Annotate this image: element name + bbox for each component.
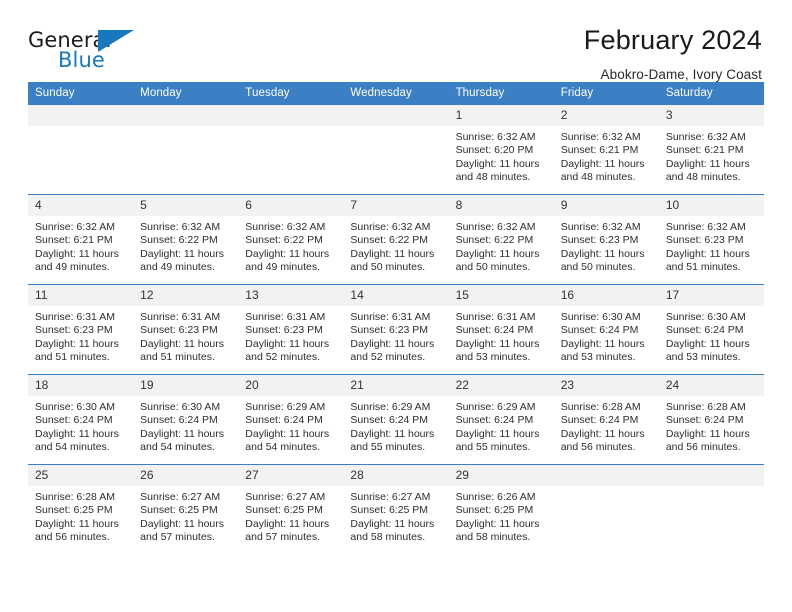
sunrise-time: Sunrise: 6:32 AM	[666, 221, 758, 234]
calendar-week-row: 18Sunrise: 6:30 AMSunset: 6:24 PMDayligh…	[28, 375, 764, 465]
daylight-duration-line2: and 51 minutes.	[666, 261, 758, 274]
sunrise-time: Sunrise: 6:28 AM	[561, 401, 653, 414]
daylight-duration-line2: and 57 minutes.	[245, 531, 337, 544]
sunset-time: Sunset: 6:23 PM	[561, 234, 653, 247]
day-sun-info: Sunrise: 6:32 AMSunset: 6:23 PMDaylight:…	[659, 216, 764, 275]
calendar-day-cell[interactable]: 24Sunrise: 6:28 AMSunset: 6:24 PMDayligh…	[659, 375, 764, 465]
day-number: 14	[343, 285, 448, 306]
daylight-duration-line2: and 55 minutes.	[456, 441, 548, 454]
daylight-duration-line1: Daylight: 11 hours	[456, 158, 548, 171]
daylight-duration-line2: and 57 minutes.	[140, 531, 232, 544]
day-sun-info: Sunrise: 6:28 AMSunset: 6:24 PMDaylight:…	[659, 396, 764, 455]
daylight-duration-line2: and 53 minutes.	[561, 351, 653, 364]
sunset-time: Sunset: 6:24 PM	[666, 324, 758, 337]
calendar-page: General Blue February 2024 Abokro-Dame, …	[0, 0, 792, 612]
sunset-time: Sunset: 6:24 PM	[350, 414, 442, 427]
calendar-day-cell[interactable]: 14Sunrise: 6:31 AMSunset: 6:23 PMDayligh…	[343, 285, 448, 375]
sunrise-time: Sunrise: 6:28 AM	[666, 401, 758, 414]
calendar-day-cell[interactable]: 16Sunrise: 6:30 AMSunset: 6:24 PMDayligh…	[554, 285, 659, 375]
day-sun-info: Sunrise: 6:32 AMSunset: 6:22 PMDaylight:…	[343, 216, 448, 275]
daylight-duration-line1: Daylight: 11 hours	[140, 248, 232, 261]
calendar-day-cell[interactable]: 11Sunrise: 6:31 AMSunset: 6:23 PMDayligh…	[28, 285, 133, 375]
daylight-duration-line2: and 50 minutes.	[561, 261, 653, 274]
calendar-day-cell-empty	[133, 105, 238, 195]
calendar-day-cell[interactable]: 5Sunrise: 6:32 AMSunset: 6:22 PMDaylight…	[133, 195, 238, 285]
daylight-duration-line1: Daylight: 11 hours	[456, 248, 548, 261]
sunrise-time: Sunrise: 6:27 AM	[140, 491, 232, 504]
day-sun-info: Sunrise: 6:32 AMSunset: 6:21 PMDaylight:…	[28, 216, 133, 275]
sunset-time: Sunset: 6:25 PM	[456, 504, 548, 517]
calendar-day-cell[interactable]: 25Sunrise: 6:28 AMSunset: 6:25 PMDayligh…	[28, 465, 133, 555]
sunrise-time: Sunrise: 6:31 AM	[456, 311, 548, 324]
sunrise-time: Sunrise: 6:31 AM	[245, 311, 337, 324]
day-number: 20	[238, 375, 343, 396]
sunset-time: Sunset: 6:21 PM	[35, 234, 127, 247]
daylight-duration-line2: and 58 minutes.	[350, 531, 442, 544]
day-number	[133, 105, 238, 126]
daylight-duration-line1: Daylight: 11 hours	[666, 248, 758, 261]
daylight-duration-line1: Daylight: 11 hours	[35, 248, 127, 261]
day-number: 29	[449, 465, 554, 486]
sunrise-time: Sunrise: 6:31 AM	[350, 311, 442, 324]
day-number	[343, 105, 448, 126]
daylight-duration-line2: and 49 minutes.	[35, 261, 127, 274]
calendar-day-cell[interactable]: 4Sunrise: 6:32 AMSunset: 6:21 PMDaylight…	[28, 195, 133, 285]
sunrise-time: Sunrise: 6:32 AM	[666, 131, 758, 144]
daylight-duration-line1: Daylight: 11 hours	[561, 248, 653, 261]
day-number: 17	[659, 285, 764, 306]
day-number: 7	[343, 195, 448, 216]
calendar-day-cell[interactable]: 9Sunrise: 6:32 AMSunset: 6:23 PMDaylight…	[554, 195, 659, 285]
calendar-day-cell[interactable]: 19Sunrise: 6:30 AMSunset: 6:24 PMDayligh…	[133, 375, 238, 465]
sunset-time: Sunset: 6:23 PM	[35, 324, 127, 337]
day-sun-info: Sunrise: 6:30 AMSunset: 6:24 PMDaylight:…	[133, 396, 238, 455]
day-number: 16	[554, 285, 659, 306]
day-sun-info: Sunrise: 6:31 AMSunset: 6:23 PMDaylight:…	[133, 306, 238, 365]
day-number: 27	[238, 465, 343, 486]
calendar-body: 1Sunrise: 6:32 AMSunset: 6:20 PMDaylight…	[28, 105, 764, 555]
sunrise-time: Sunrise: 6:32 AM	[561, 221, 653, 234]
calendar-day-cell[interactable]: 3Sunrise: 6:32 AMSunset: 6:21 PMDaylight…	[659, 105, 764, 195]
day-number: 19	[133, 375, 238, 396]
daylight-duration-line1: Daylight: 11 hours	[666, 428, 758, 441]
calendar-day-cell-empty	[659, 465, 764, 555]
sunset-time: Sunset: 6:22 PM	[456, 234, 548, 247]
daylight-duration-line2: and 56 minutes.	[35, 531, 127, 544]
month-calendar-table: Sunday Monday Tuesday Wednesday Thursday…	[28, 82, 764, 555]
day-number: 5	[133, 195, 238, 216]
day-sun-info: Sunrise: 6:30 AMSunset: 6:24 PMDaylight:…	[659, 306, 764, 365]
title-block: February 2024 Abokro-Dame, Ivory Coast	[584, 26, 764, 82]
daylight-duration-line2: and 49 minutes.	[140, 261, 232, 274]
calendar-day-cell[interactable]: 27Sunrise: 6:27 AMSunset: 6:25 PMDayligh…	[238, 465, 343, 555]
calendar-week-row: 25Sunrise: 6:28 AMSunset: 6:25 PMDayligh…	[28, 465, 764, 555]
page-header: General Blue February 2024 Abokro-Dame, …	[28, 0, 764, 74]
day-sun-info: Sunrise: 6:27 AMSunset: 6:25 PMDaylight:…	[343, 486, 448, 545]
location-subtitle: Abokro-Dame, Ivory Coast	[584, 67, 762, 82]
daylight-duration-line2: and 54 minutes.	[35, 441, 127, 454]
day-number	[28, 105, 133, 126]
daylight-duration-line2: and 53 minutes.	[666, 351, 758, 364]
day-sun-info: Sunrise: 6:32 AMSunset: 6:22 PMDaylight:…	[133, 216, 238, 275]
daylight-duration-line2: and 55 minutes.	[350, 441, 442, 454]
daylight-duration-line2: and 48 minutes.	[561, 171, 653, 184]
sunrise-time: Sunrise: 6:30 AM	[140, 401, 232, 414]
sunset-time: Sunset: 6:21 PM	[666, 144, 758, 157]
sunrise-time: Sunrise: 6:32 AM	[456, 131, 548, 144]
weekday-header-friday: Friday	[554, 82, 659, 105]
weekday-header-monday: Monday	[133, 82, 238, 105]
sunrise-time: Sunrise: 6:30 AM	[666, 311, 758, 324]
day-number: 24	[659, 375, 764, 396]
calendar-week-row: 4Sunrise: 6:32 AMSunset: 6:21 PMDaylight…	[28, 195, 764, 285]
daylight-duration-line2: and 54 minutes.	[140, 441, 232, 454]
day-sun-info: Sunrise: 6:27 AMSunset: 6:25 PMDaylight:…	[133, 486, 238, 545]
day-number: 28	[343, 465, 448, 486]
daylight-duration-line2: and 52 minutes.	[350, 351, 442, 364]
daylight-duration-line2: and 48 minutes.	[666, 171, 758, 184]
day-number: 15	[449, 285, 554, 306]
daylight-duration-line1: Daylight: 11 hours	[666, 158, 758, 171]
sunset-time: Sunset: 6:24 PM	[561, 324, 653, 337]
day-number: 1	[449, 105, 554, 126]
day-number: 4	[28, 195, 133, 216]
sunset-time: Sunset: 6:24 PM	[456, 414, 548, 427]
daylight-duration-line1: Daylight: 11 hours	[456, 338, 548, 351]
calendar-day-cell[interactable]: 29Sunrise: 6:26 AMSunset: 6:25 PMDayligh…	[449, 465, 554, 555]
logo-text-blue: Blue	[58, 50, 105, 71]
sunset-time: Sunset: 6:24 PM	[561, 414, 653, 427]
calendar-week-row: 1Sunrise: 6:32 AMSunset: 6:20 PMDaylight…	[28, 105, 764, 195]
daylight-duration-line2: and 52 minutes.	[245, 351, 337, 364]
day-sun-info: Sunrise: 6:27 AMSunset: 6:25 PMDaylight:…	[238, 486, 343, 545]
weekday-header-sunday: Sunday	[28, 82, 133, 105]
sunset-time: Sunset: 6:22 PM	[245, 234, 337, 247]
weekday-header-tuesday: Tuesday	[238, 82, 343, 105]
sunrise-time: Sunrise: 6:30 AM	[35, 401, 127, 414]
sunrise-time: Sunrise: 6:29 AM	[350, 401, 442, 414]
sunset-time: Sunset: 6:23 PM	[245, 324, 337, 337]
daylight-duration-line1: Daylight: 11 hours	[456, 428, 548, 441]
sunrise-time: Sunrise: 6:32 AM	[561, 131, 653, 144]
day-sun-info: Sunrise: 6:32 AMSunset: 6:20 PMDaylight:…	[449, 126, 554, 185]
daylight-duration-line2: and 51 minutes.	[140, 351, 232, 364]
day-number: 18	[28, 375, 133, 396]
day-sun-info: Sunrise: 6:31 AMSunset: 6:23 PMDaylight:…	[238, 306, 343, 365]
calendar-day-cell[interactable]: 8Sunrise: 6:32 AMSunset: 6:22 PMDaylight…	[449, 195, 554, 285]
calendar-day-cell[interactable]: 13Sunrise: 6:31 AMSunset: 6:23 PMDayligh…	[238, 285, 343, 375]
day-sun-info: Sunrise: 6:30 AMSunset: 6:24 PMDaylight:…	[28, 396, 133, 455]
daylight-duration-line1: Daylight: 11 hours	[245, 248, 337, 261]
daylight-duration-line1: Daylight: 11 hours	[35, 338, 127, 351]
calendar-day-cell[interactable]: 22Sunrise: 6:29 AMSunset: 6:24 PMDayligh…	[449, 375, 554, 465]
day-sun-info: Sunrise: 6:32 AMSunset: 6:22 PMDaylight:…	[238, 216, 343, 275]
sunrise-time: Sunrise: 6:32 AM	[35, 221, 127, 234]
day-sun-info: Sunrise: 6:31 AMSunset: 6:23 PMDaylight:…	[28, 306, 133, 365]
daylight-duration-line2: and 53 minutes.	[456, 351, 548, 364]
sunrise-time: Sunrise: 6:27 AM	[350, 491, 442, 504]
calendar-day-cell-empty	[28, 105, 133, 195]
daylight-duration-line1: Daylight: 11 hours	[140, 338, 232, 351]
day-sun-info: Sunrise: 6:26 AMSunset: 6:25 PMDaylight:…	[449, 486, 554, 545]
daylight-duration-line2: and 50 minutes.	[350, 261, 442, 274]
day-number: 23	[554, 375, 659, 396]
general-blue-logo[interactable]: General Blue	[28, 26, 138, 74]
day-number: 2	[554, 105, 659, 126]
day-number: 26	[133, 465, 238, 486]
sunset-time: Sunset: 6:22 PM	[350, 234, 442, 247]
day-number: 12	[133, 285, 238, 306]
day-sun-info: Sunrise: 6:32 AMSunset: 6:21 PMDaylight:…	[554, 126, 659, 185]
calendar-day-cell-empty	[554, 465, 659, 555]
sunrise-time: Sunrise: 6:32 AM	[140, 221, 232, 234]
daylight-duration-line1: Daylight: 11 hours	[245, 338, 337, 351]
day-number: 8	[449, 195, 554, 216]
sunset-time: Sunset: 6:25 PM	[35, 504, 127, 517]
calendar-day-cell[interactable]: 21Sunrise: 6:29 AMSunset: 6:24 PMDayligh…	[343, 375, 448, 465]
sunset-time: Sunset: 6:23 PM	[350, 324, 442, 337]
calendar-day-cell[interactable]: 28Sunrise: 6:27 AMSunset: 6:25 PMDayligh…	[343, 465, 448, 555]
calendar-day-cell[interactable]: 1Sunrise: 6:32 AMSunset: 6:20 PMDaylight…	[449, 105, 554, 195]
weekday-header-thursday: Thursday	[449, 82, 554, 105]
day-sun-info: Sunrise: 6:28 AMSunset: 6:25 PMDaylight:…	[28, 486, 133, 545]
day-number	[554, 465, 659, 486]
sunrise-time: Sunrise: 6:30 AM	[561, 311, 653, 324]
calendar-day-cell[interactable]: 7Sunrise: 6:32 AMSunset: 6:22 PMDaylight…	[343, 195, 448, 285]
calendar-day-cell[interactable]: 10Sunrise: 6:32 AMSunset: 6:23 PMDayligh…	[659, 195, 764, 285]
sunrise-time: Sunrise: 6:29 AM	[456, 401, 548, 414]
daylight-duration-line1: Daylight: 11 hours	[456, 518, 548, 531]
calendar-day-cell[interactable]: 18Sunrise: 6:30 AMSunset: 6:24 PMDayligh…	[28, 375, 133, 465]
sunrise-time: Sunrise: 6:32 AM	[456, 221, 548, 234]
day-number: 21	[343, 375, 448, 396]
sunrise-time: Sunrise: 6:31 AM	[140, 311, 232, 324]
daylight-duration-line2: and 48 minutes.	[456, 171, 548, 184]
calendar-day-cell[interactable]: 23Sunrise: 6:28 AMSunset: 6:24 PMDayligh…	[554, 375, 659, 465]
daylight-duration-line2: and 51 minutes.	[35, 351, 127, 364]
daylight-duration-line1: Daylight: 11 hours	[140, 518, 232, 531]
day-sun-info: Sunrise: 6:28 AMSunset: 6:24 PMDaylight:…	[554, 396, 659, 455]
daylight-duration-line1: Daylight: 11 hours	[561, 338, 653, 351]
day-number: 25	[28, 465, 133, 486]
sunrise-time: Sunrise: 6:32 AM	[350, 221, 442, 234]
calendar-day-cell[interactable]: 17Sunrise: 6:30 AMSunset: 6:24 PMDayligh…	[659, 285, 764, 375]
day-sun-info: Sunrise: 6:31 AMSunset: 6:23 PMDaylight:…	[343, 306, 448, 365]
daylight-duration-line2: and 58 minutes.	[456, 531, 548, 544]
day-sun-info: Sunrise: 6:29 AMSunset: 6:24 PMDaylight:…	[238, 396, 343, 455]
sunset-time: Sunset: 6:25 PM	[350, 504, 442, 517]
day-sun-info: Sunrise: 6:32 AMSunset: 6:22 PMDaylight:…	[449, 216, 554, 275]
calendar-day-cell[interactable]: 26Sunrise: 6:27 AMSunset: 6:25 PMDayligh…	[133, 465, 238, 555]
daylight-duration-line1: Daylight: 11 hours	[35, 518, 127, 531]
daylight-duration-line2: and 54 minutes.	[245, 441, 337, 454]
daylight-duration-line2: and 56 minutes.	[666, 441, 758, 454]
calendar-day-cell-empty	[238, 105, 343, 195]
daylight-duration-line2: and 49 minutes.	[245, 261, 337, 274]
sunset-time: Sunset: 6:24 PM	[666, 414, 758, 427]
day-sun-info: Sunrise: 6:29 AMSunset: 6:24 PMDaylight:…	[343, 396, 448, 455]
calendar-day-cell[interactable]: 6Sunrise: 6:32 AMSunset: 6:22 PMDaylight…	[238, 195, 343, 285]
day-number	[238, 105, 343, 126]
sunrise-time: Sunrise: 6:31 AM	[35, 311, 127, 324]
day-sun-info: Sunrise: 6:32 AMSunset: 6:23 PMDaylight:…	[554, 216, 659, 275]
sunrise-time: Sunrise: 6:26 AM	[456, 491, 548, 504]
weekday-header-saturday: Saturday	[659, 82, 764, 105]
daylight-duration-line1: Daylight: 11 hours	[350, 518, 442, 531]
sunset-time: Sunset: 6:24 PM	[140, 414, 232, 427]
sunrise-time: Sunrise: 6:32 AM	[245, 221, 337, 234]
daylight-duration-line1: Daylight: 11 hours	[561, 428, 653, 441]
weekday-header-wednesday: Wednesday	[343, 82, 448, 105]
sunset-time: Sunset: 6:23 PM	[140, 324, 232, 337]
sunrise-time: Sunrise: 6:28 AM	[35, 491, 127, 504]
daylight-duration-line1: Daylight: 11 hours	[245, 428, 337, 441]
calendar-day-cell[interactable]: 12Sunrise: 6:31 AMSunset: 6:23 PMDayligh…	[133, 285, 238, 375]
calendar-day-cell-empty	[343, 105, 448, 195]
daylight-duration-line1: Daylight: 11 hours	[350, 338, 442, 351]
sunset-time: Sunset: 6:24 PM	[456, 324, 548, 337]
daylight-duration-line1: Daylight: 11 hours	[140, 428, 232, 441]
sunset-time: Sunset: 6:24 PM	[35, 414, 127, 427]
daylight-duration-line1: Daylight: 11 hours	[350, 428, 442, 441]
sunset-time: Sunset: 6:21 PM	[561, 144, 653, 157]
day-sun-info: Sunrise: 6:30 AMSunset: 6:24 PMDaylight:…	[554, 306, 659, 365]
day-number: 13	[238, 285, 343, 306]
day-number: 10	[659, 195, 764, 216]
calendar-week-row: 11Sunrise: 6:31 AMSunset: 6:23 PMDayligh…	[28, 285, 764, 375]
sunrise-time: Sunrise: 6:27 AM	[245, 491, 337, 504]
daylight-duration-line2: and 50 minutes.	[456, 261, 548, 274]
calendar-day-cell[interactable]: 20Sunrise: 6:29 AMSunset: 6:24 PMDayligh…	[238, 375, 343, 465]
day-sun-info: Sunrise: 6:32 AMSunset: 6:21 PMDaylight:…	[659, 126, 764, 185]
sunset-time: Sunset: 6:24 PM	[245, 414, 337, 427]
daylight-duration-line2: and 56 minutes.	[561, 441, 653, 454]
daylight-duration-line1: Daylight: 11 hours	[245, 518, 337, 531]
page-title: February 2024	[584, 26, 762, 56]
calendar-day-cell[interactable]: 15Sunrise: 6:31 AMSunset: 6:24 PMDayligh…	[449, 285, 554, 375]
day-number: 6	[238, 195, 343, 216]
day-sun-info: Sunrise: 6:31 AMSunset: 6:24 PMDaylight:…	[449, 306, 554, 365]
sunset-time: Sunset: 6:25 PM	[245, 504, 337, 517]
calendar-day-cell[interactable]: 2Sunrise: 6:32 AMSunset: 6:21 PMDaylight…	[554, 105, 659, 195]
calendar-header-row: Sunday Monday Tuesday Wednesday Thursday…	[28, 82, 764, 105]
sunset-time: Sunset: 6:25 PM	[140, 504, 232, 517]
sunrise-time: Sunrise: 6:29 AM	[245, 401, 337, 414]
day-sun-info: Sunrise: 6:29 AMSunset: 6:24 PMDaylight:…	[449, 396, 554, 455]
day-number: 22	[449, 375, 554, 396]
sunset-time: Sunset: 6:22 PM	[140, 234, 232, 247]
daylight-duration-line1: Daylight: 11 hours	[666, 338, 758, 351]
day-number: 3	[659, 105, 764, 126]
day-number: 9	[554, 195, 659, 216]
sunset-time: Sunset: 6:23 PM	[666, 234, 758, 247]
daylight-duration-line1: Daylight: 11 hours	[561, 158, 653, 171]
day-number	[659, 465, 764, 486]
sunset-time: Sunset: 6:20 PM	[456, 144, 548, 157]
day-number: 11	[28, 285, 133, 306]
daylight-duration-line1: Daylight: 11 hours	[35, 428, 127, 441]
daylight-duration-line1: Daylight: 11 hours	[350, 248, 442, 261]
